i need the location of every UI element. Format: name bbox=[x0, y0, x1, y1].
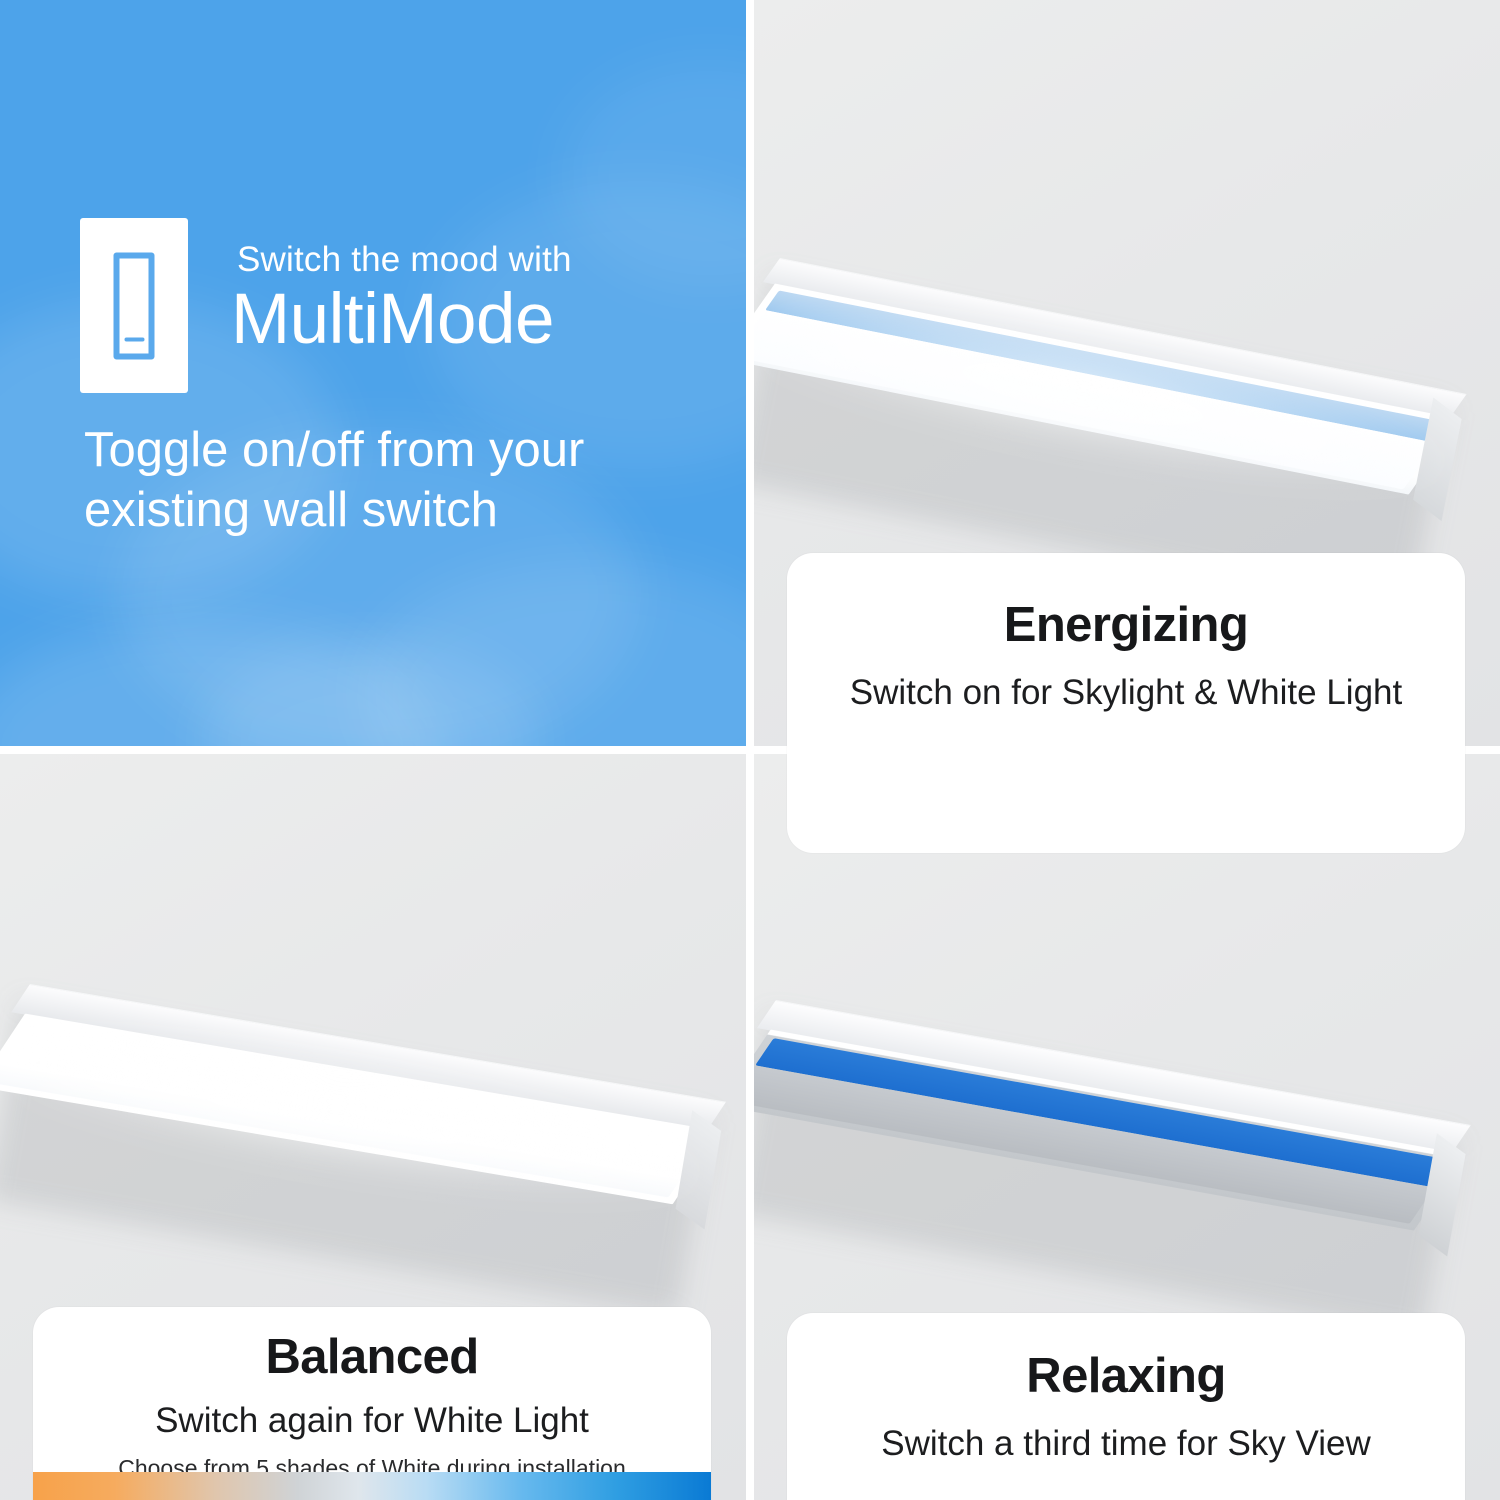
card-title-relaxing: Relaxing bbox=[787, 1348, 1465, 1404]
card-subtitle-energizing: Switch on for Skylight & White Light bbox=[787, 673, 1465, 713]
card-title-energizing: Energizing bbox=[787, 597, 1465, 653]
white-shades-gradient-bar bbox=[33, 1472, 711, 1500]
caption-card-relaxing: Relaxing Switch a third time for Sky Vie… bbox=[787, 1313, 1465, 1500]
cloud-shape bbox=[200, 640, 540, 746]
card-subtitle-relaxing: Switch a third time for Sky View bbox=[787, 1424, 1465, 1464]
caption-card-energizing: Energizing Switch on for Skylight & Whit… bbox=[787, 553, 1465, 853]
cloud-shape bbox=[360, 560, 746, 746]
hero-title: MultiMode bbox=[231, 283, 554, 358]
wall-switch-plate-icon bbox=[80, 218, 188, 393]
rocker-indicator-dash-icon bbox=[124, 337, 144, 341]
hero-subtitle: Toggle on/off from your existing wall sw… bbox=[84, 421, 714, 541]
cloud-shape bbox=[560, 60, 746, 290]
cloud-shape bbox=[0, 620, 440, 746]
card-subtitle-balanced: Switch again for White Light bbox=[33, 1401, 711, 1441]
rocker-switch-icon bbox=[114, 252, 155, 359]
infographic-canvas: Switch the mood with MultiMode Toggle on… bbox=[0, 0, 1500, 1500]
card-title-balanced: Balanced bbox=[33, 1329, 711, 1385]
panel-hero-multimode: Switch the mood with MultiMode Toggle on… bbox=[0, 0, 746, 746]
hero-eyebrow: Switch the mood with bbox=[237, 240, 572, 280]
